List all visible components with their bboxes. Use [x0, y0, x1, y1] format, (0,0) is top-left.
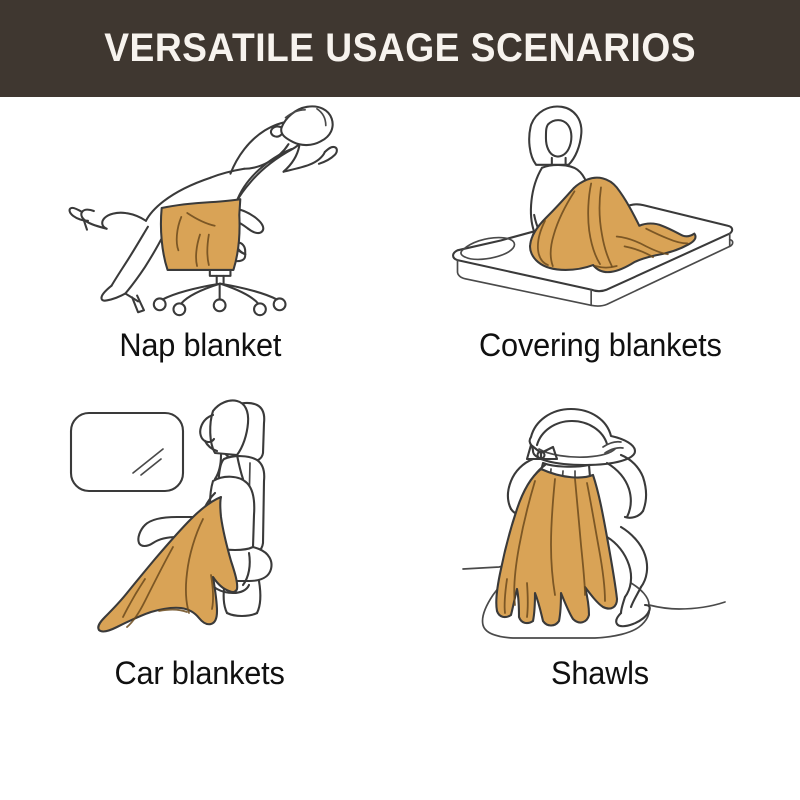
car-blankets-illustration [35, 397, 365, 655]
scenario-label-covering-blankets: Covering blankets [479, 327, 722, 364]
scenario-card-car-blankets[interactable]: Car blankets [0, 397, 400, 697]
scenario-card-shawls[interactable]: Shawls [400, 397, 800, 697]
shawls-illustration [435, 397, 765, 655]
scenario-label-nap-blanket: Nap blanket [119, 327, 281, 364]
scenario-card-covering-blankets[interactable]: Covering blankets [400, 97, 800, 397]
nap-blanket-illustration [35, 97, 365, 325]
scenario-label-shawls: Shawls [551, 655, 649, 692]
car-window [71, 413, 183, 491]
blanket-nap [161, 199, 240, 270]
scenario-grid: Nap blanket [0, 97, 800, 800]
versatile-usage-scenarios-page: VERSATILE USAGE SCENARIOS [0, 0, 800, 800]
covering-blankets-illustration [435, 97, 765, 325]
page-title: VERSATILE USAGE SCENARIOS [104, 28, 696, 70]
scenario-label-car-blankets: Car blankets [115, 655, 285, 692]
header-banner: VERSATILE USAGE SCENARIOS [0, 0, 800, 97]
scenario-card-nap-blanket[interactable]: Nap blanket [0, 97, 400, 397]
blanket-shawl [496, 469, 617, 626]
